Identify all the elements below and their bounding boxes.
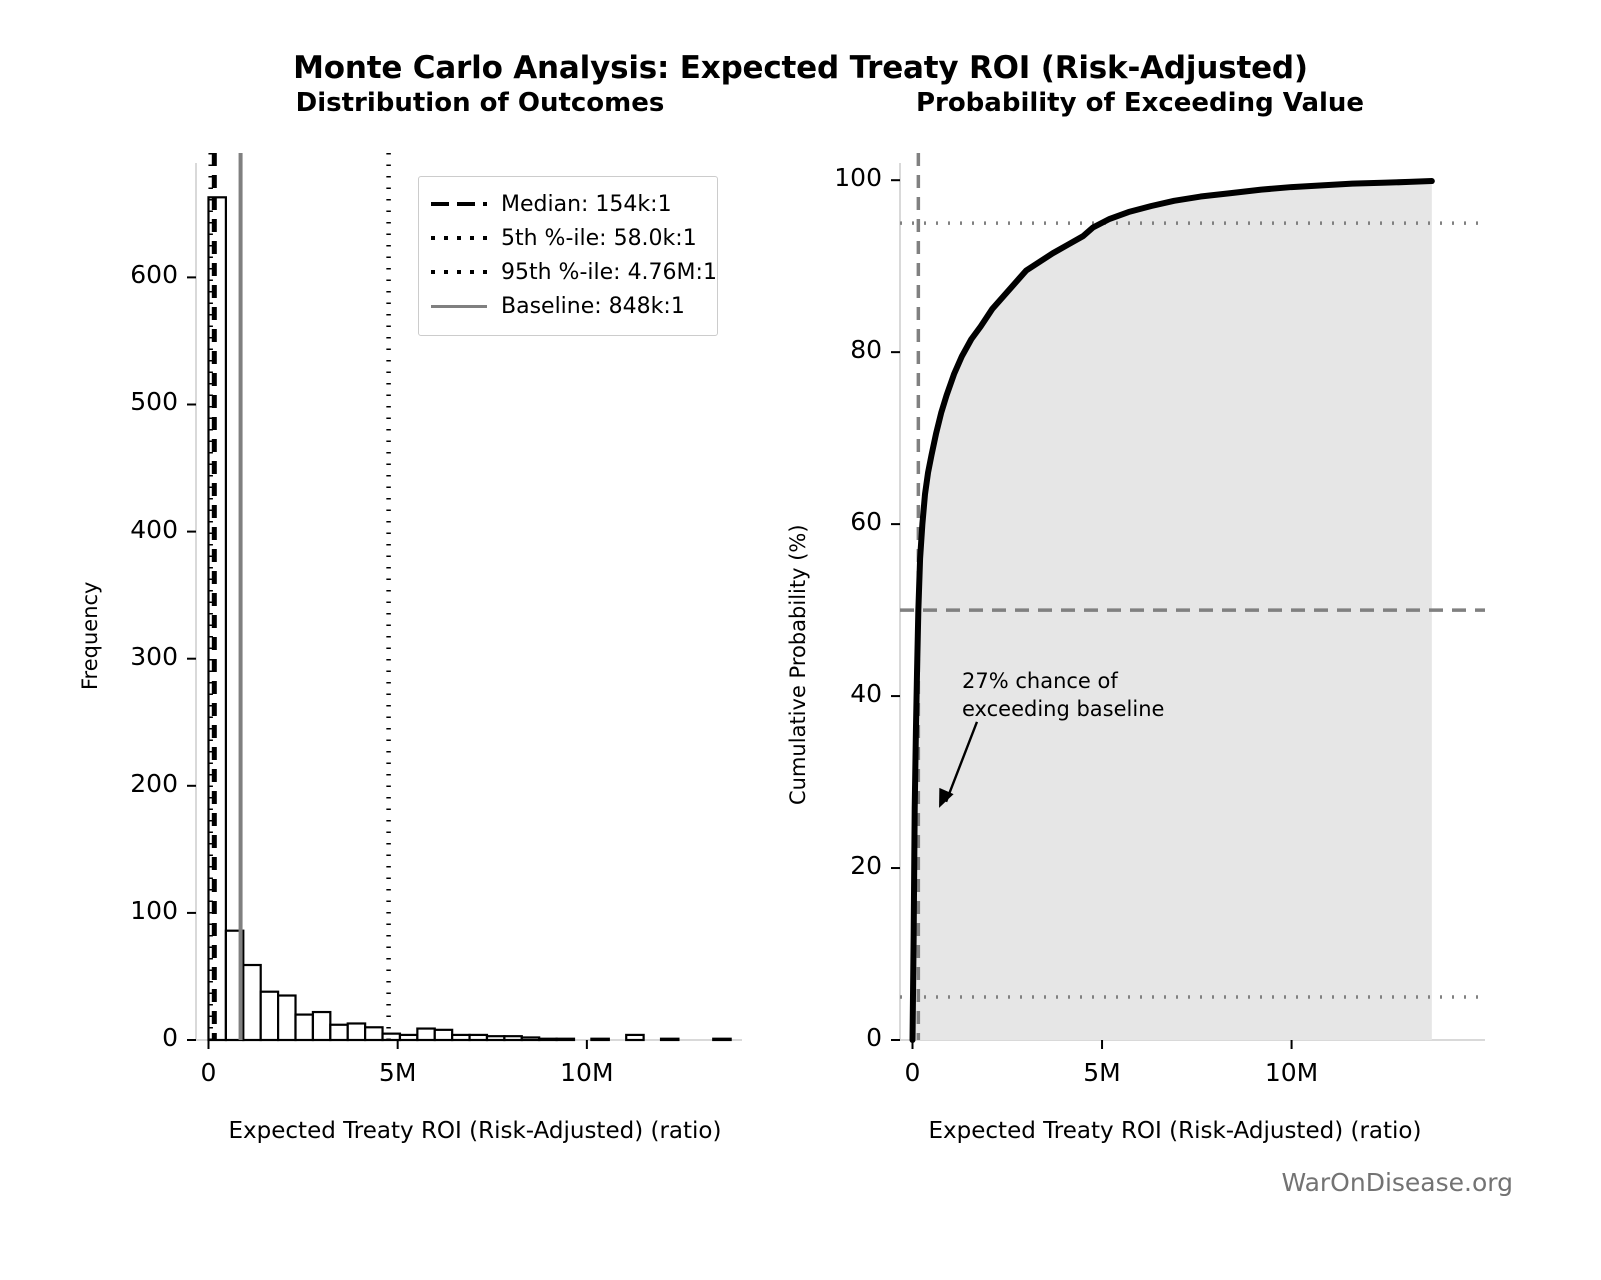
left-ytick-300: 300 [0,642,178,671]
right-x-axis-label: Expected Treaty ROI (Risk-Adjusted) (rat… [850,1118,1500,1144]
legend-label-p95: 95th %-ile: 4.76M:1 [501,260,717,285]
right-ytick-0: 0 [682,1023,882,1052]
legend-label-p5: 5th %-ile: 58.0k:1 [501,226,697,251]
figure-canvas: Monte Carlo Analysis: Expected Treaty RO… [0,0,1601,1280]
left-ytick-200: 200 [0,769,178,798]
right-ytick-80: 80 [682,335,882,364]
legend-swatch-p95-dotted-line-icon [431,264,487,280]
left-ytick-500: 500 [0,387,178,416]
right-xtick-2: 10M [1192,1058,1392,1087]
right-ytick-60: 60 [682,507,882,536]
right-ytick-40: 40 [682,679,882,708]
annotation-line-1: 27% chance of [962,669,1118,693]
legend-swatch-baseline-solid-line-icon [431,298,487,314]
right-y-axis-label: Cumulative Probability (%) [786,524,810,805]
legend-swatch-median-dashed-line-icon [431,196,487,212]
right-xtick-0: 0 [813,1058,1013,1087]
legend-label-baseline: Baseline: 848k:1 [501,294,685,319]
left-ytick-0: 0 [0,1023,178,1052]
right-xtick-1: 5M [1002,1058,1202,1087]
legend-item-baseline: Baseline: 848k:1 [431,289,705,323]
legend-item-p95: 95th %-ile: 4.76M:1 [431,255,705,289]
left-ytick-100: 100 [0,896,178,925]
left-xtick-2: 10M [487,1058,687,1087]
left-xtick-1: 5M [298,1058,498,1087]
exceeding-baseline-annotation: 27% chance of exceeding baseline [962,668,1164,723]
left-ytick-400: 400 [0,515,178,544]
legend-label-median: Median: 154k:1 [501,192,672,217]
watermark: WarOnDisease.org [1281,1168,1513,1197]
right-ytick-20: 20 [682,851,882,880]
legend-swatch-p5-dotted-line-icon [431,230,487,246]
legend-item-p5: 5th %-ile: 58.0k:1 [431,221,705,255]
right-ytick-100: 100 [682,163,882,192]
legend: Median: 154k:1 5th %-ile: 58.0k:1 95th %… [418,176,718,336]
left-ytick-600: 600 [0,260,178,289]
left-xtick-0: 0 [108,1058,308,1087]
annotation-line-2: exceeding baseline [962,697,1164,721]
legend-item-median: Median: 154k:1 [431,187,705,221]
left-x-axis-label: Expected Treaty ROI (Risk-Adjusted) (rat… [150,1118,800,1144]
